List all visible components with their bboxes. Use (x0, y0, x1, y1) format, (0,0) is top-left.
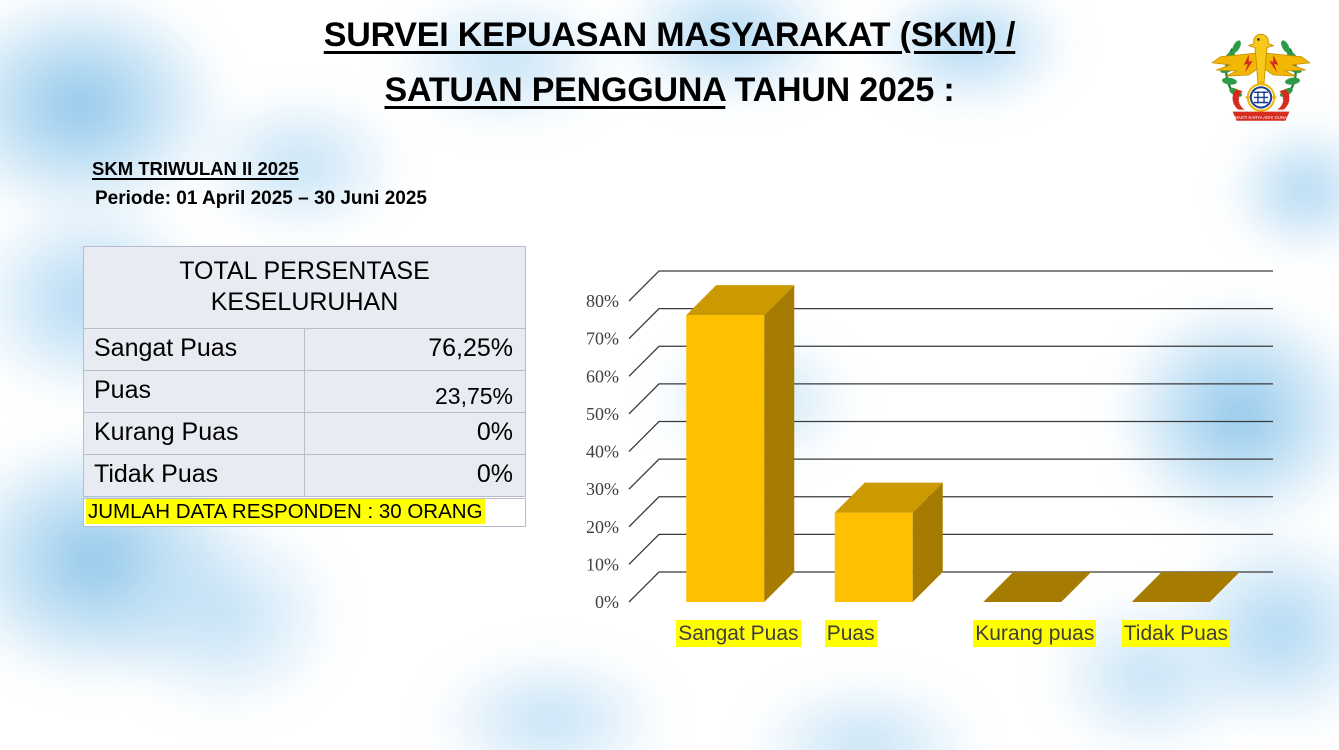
title-line-2: SATUAN PENGGUNA TAHUN 2025 : (0, 63, 1339, 118)
chart-svg: 0%10%20%30%40%50%60%70%80% (570, 255, 1300, 675)
total-persentase-table: TOTAL PERSENTASE KESELURUHAN Sangat Puas… (83, 246, 526, 497)
table-header-line-2: KESELURUHAN (90, 287, 519, 318)
y-tick-label: 40% (586, 442, 619, 462)
table-row: Tidak Puas 0% (84, 455, 526, 497)
row-label-puas: Puas (84, 371, 305, 413)
y-tick-label: 70% (586, 329, 619, 349)
table-row: Puas 23,75% (84, 371, 526, 413)
x-axis-label: Kurang puas (973, 620, 1096, 647)
row-value-tidak-puas: 0% (305, 455, 526, 497)
x-axis-label: Puas (825, 620, 877, 647)
row-label-tidak-puas: Tidak Puas (84, 455, 305, 497)
x-axis-label: Sangat Puas (676, 620, 800, 647)
slide-canvas: SURVEI KEPUASAN MASYARAKAT (SKM) / SATUA… (0, 0, 1339, 750)
y-tick-label: 30% (586, 479, 619, 499)
government-eagle-emblem-icon: BAKTI KARYA ADHI GUNA (1200, 12, 1322, 134)
bar-tidak-puas (1132, 572, 1240, 602)
title-line-2-underlined-text: SATUAN PENGGUNA (385, 71, 726, 109)
row-label-sangat-puas: Sangat Puas (84, 329, 305, 371)
row-value-puas: 23,75% (305, 371, 526, 413)
y-tick-label: 0% (595, 592, 619, 612)
subtitle-heading: SKM TRIWULAN II 2025 (92, 158, 299, 180)
y-tick-label: 80% (586, 291, 619, 311)
subtitle-period: Periode: 01 April 2025 – 30 Juni 2025 (95, 188, 427, 210)
bar-puas (835, 483, 943, 602)
title-line-1: SURVEI KEPUASAN MASYARAKAT (SKM) / (0, 8, 1339, 63)
title-line-2-plain-text: TAHUN 2025 : (725, 71, 954, 109)
row-value-kurang-puas: 0% (305, 413, 526, 455)
bar-kurang-puas (983, 572, 1091, 602)
jumlah-responden-box: JUMLAH DATA RESPONDEN : 30 ORANG (83, 498, 526, 527)
table-header-line-1: TOTAL PERSENTASE (90, 256, 519, 287)
row-value-sangat-puas: 76,25% (305, 329, 526, 371)
y-tick-label: 20% (586, 517, 619, 537)
chart-y-axis-ticks: 0%10%20%30%40%50%60%70%80% (586, 291, 619, 612)
page-title: SURVEI KEPUASAN MASYARAKAT (SKM) / SATUA… (0, 8, 1339, 118)
skm-3d-bar-chart: 0%10%20%30%40%50%60%70%80% Sangat PuasPu… (570, 255, 1300, 675)
row-label-kurang-puas: Kurang Puas (84, 413, 305, 455)
table-row: Kurang Puas 0% (84, 413, 526, 455)
jumlah-responden-text: JUMLAH DATA RESPONDEN : 30 ORANG (86, 499, 485, 524)
title-line-1-text: SURVEI KEPUASAN MASYARAKAT (SKM) / (324, 16, 1016, 54)
table-header-cell: TOTAL PERSENTASE KESELURUHAN (84, 247, 526, 329)
table-header-row: TOTAL PERSENTASE KESELURUHAN (84, 247, 526, 329)
subtitle-block: SKM TRIWULAN II 2025 Periode: 01 April 2… (92, 158, 427, 210)
chart-bars (686, 285, 1240, 602)
table-row: Sangat Puas 76,25% (84, 329, 526, 371)
bar-sangat-puas (686, 285, 794, 602)
y-tick-label: 60% (586, 366, 619, 386)
x-axis-label: Tidak Puas (1122, 620, 1230, 647)
y-tick-label: 10% (586, 554, 619, 574)
emblem-motto-text: BAKTI KARYA ADHI GUNA (1235, 115, 1287, 120)
y-tick-label: 50% (586, 404, 619, 424)
